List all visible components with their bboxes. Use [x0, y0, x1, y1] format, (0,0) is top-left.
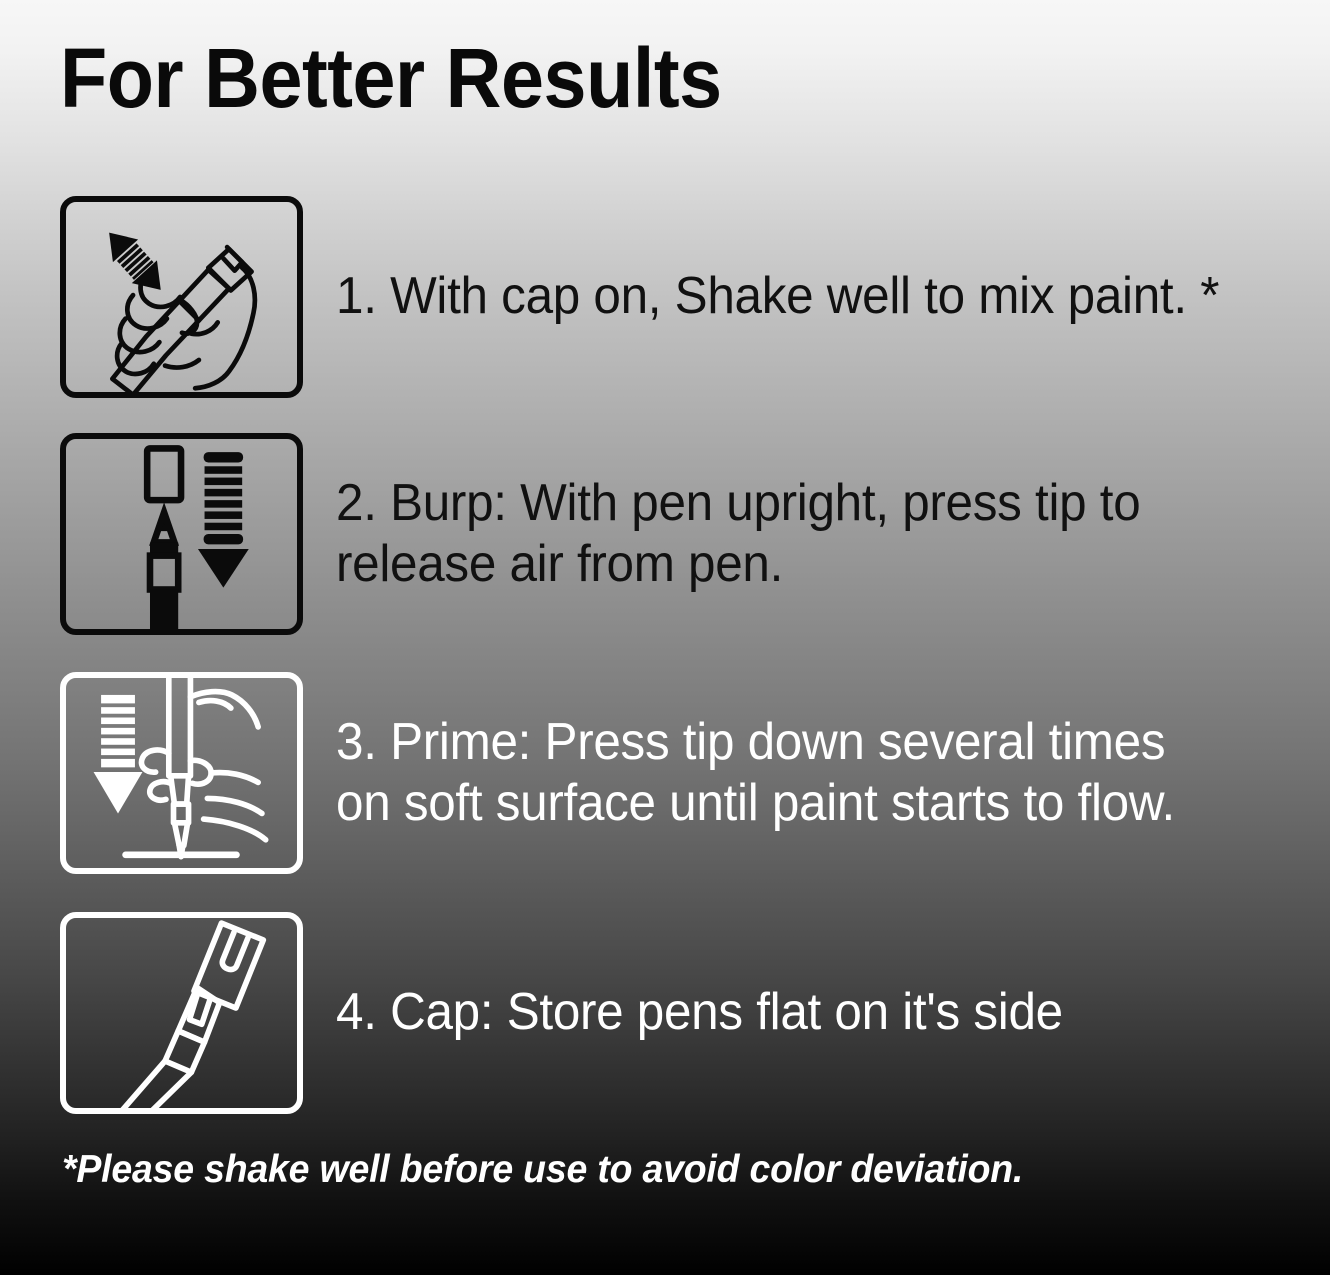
step-text-4: 4. Cap: Store pens flat on it's side	[336, 982, 1063, 1043]
step-text-1: 1. With cap on, Shake well to mix paint.…	[336, 266, 1219, 327]
page-title: For Better Results	[60, 36, 722, 120]
upright-pen-burp-icon-graphic	[66, 439, 297, 629]
prime-press-tip-icon	[60, 672, 303, 874]
step-row-4: 4. Cap: Store pens flat on it's side	[60, 912, 1290, 1114]
footnote-text: *Please shake well before use to avoid c…	[62, 1148, 1023, 1192]
upright-pen-burp-icon	[60, 433, 303, 635]
step-text-3: 3. Prime: Press tip down several times o…	[336, 712, 1175, 835]
capped-pen-flat-icon-graphic	[66, 918, 297, 1108]
instruction-panel: For Better Results	[0, 0, 1330, 1275]
capped-pen-flat-icon	[60, 912, 303, 1114]
shake-pen-icon-graphic	[66, 202, 297, 392]
step-row-3: 3. Prime: Press tip down several times o…	[60, 672, 1290, 874]
shake-pen-icon	[60, 196, 303, 398]
step-row-2: 2. Burp: With pen upright, press tip to …	[60, 433, 1290, 635]
prime-press-tip-icon-graphic	[66, 678, 297, 868]
step-text-2: 2. Burp: With pen upright, press tip to …	[336, 473, 1140, 596]
step-row-1: 1. With cap on, Shake well to mix paint.…	[60, 196, 1290, 398]
